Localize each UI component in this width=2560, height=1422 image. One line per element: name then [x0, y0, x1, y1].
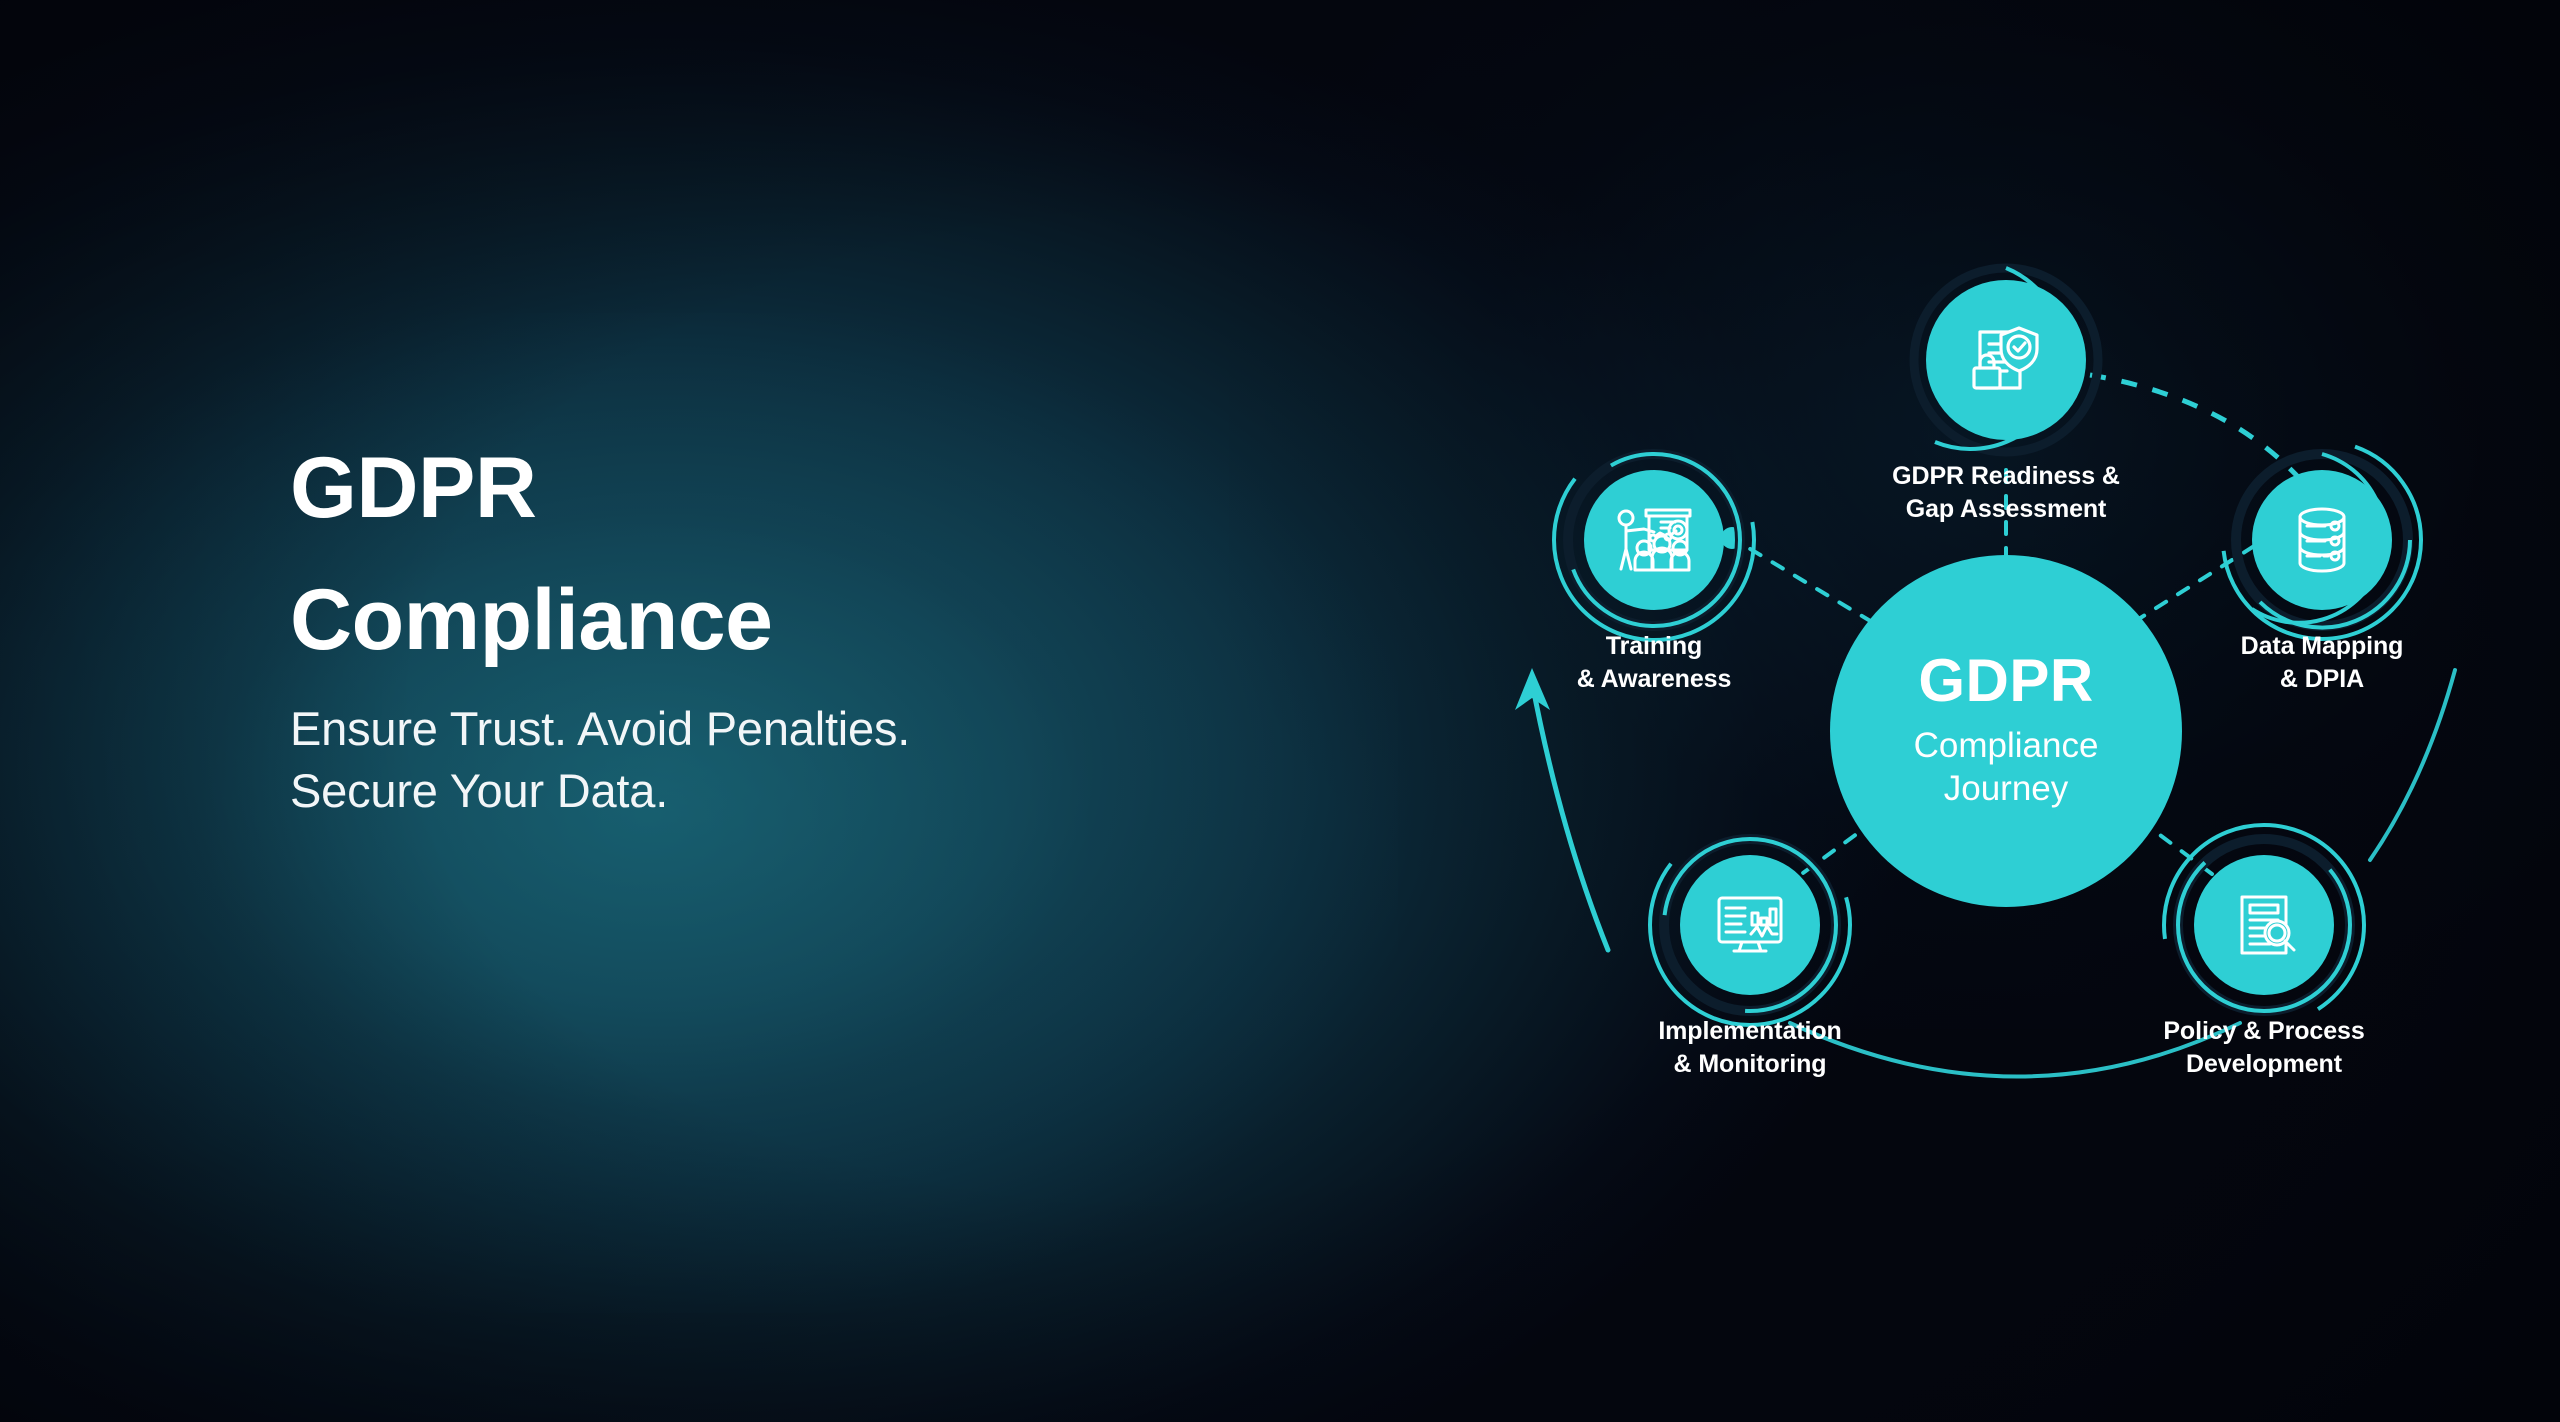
node-data-mapping-label: Data Mapping & DPIA — [2241, 630, 2404, 695]
label-line-1: Implementation — [1658, 1017, 1841, 1045]
label-line-2: Development — [2186, 1050, 2342, 1078]
node-implementation-monitoring-circle[interactable] — [1680, 855, 1820, 995]
hub-subtitle-line-2: Journey — [1944, 769, 2069, 808]
node-training-awareness-circle[interactable] — [1584, 470, 1724, 610]
page-title: GDPR Compliance — [290, 445, 1190, 664]
node-implementation-monitoring-label: Implementation & Monitoring — [1658, 1015, 1841, 1080]
node-training-awareness[interactable]: Training & Awareness — [1584, 470, 1724, 610]
node-training-awareness-label: Training & Awareness — [1577, 630, 1732, 695]
label-line-1: Training — [1606, 632, 1702, 660]
hub-title: GDPR — [1918, 651, 2093, 711]
headline-line-1: GDPR — [290, 440, 536, 536]
label-line-2: Gap Assessment — [1906, 495, 2107, 523]
arc-data-mapping-to-policy — [2370, 670, 2455, 860]
database-cylinder-icon — [2281, 499, 2363, 581]
node-implementation-monitoring[interactable]: Implementation & Monitoring — [1680, 855, 1820, 995]
node-data-mapping[interactable]: Data Mapping & DPIA — [2252, 470, 2392, 610]
subtitle-line-1: Ensure Trust. Avoid Penalties. — [290, 702, 910, 755]
headline-line-2: Compliance — [290, 577, 1190, 665]
node-policy-process[interactable]: Policy & Process Development — [2194, 855, 2334, 995]
gdpr-compliance-journey-diagram: GDPR Compliance Journey — [1480, 170, 2560, 1290]
presentation-training-icon — [1612, 498, 1696, 582]
hub-subtitle-line-1: Compliance — [1914, 726, 2099, 765]
label-line-2: & DPIA — [2280, 665, 2364, 693]
node-gdpr-readiness-circle[interactable] — [1926, 280, 2086, 440]
subtitle-line-2: Secure Your Data. — [290, 764, 668, 817]
slide-canvas: GDPR Compliance Ensure Trust. Avoid Pena… — [0, 0, 2560, 1422]
node-policy-process-circle[interactable] — [2194, 855, 2334, 995]
node-policy-process-label: Policy & Process Development — [2163, 1015, 2364, 1080]
node-data-mapping-circle[interactable] — [2252, 470, 2392, 610]
label-line-1: Data Mapping — [2241, 632, 2404, 660]
document-lock-shield-check-icon — [1958, 312, 2054, 408]
label-line-1: Policy & Process — [2163, 1017, 2364, 1045]
arrow-implementation-to-training — [1515, 668, 1608, 950]
label-line-1: GDPR Readiness & — [1892, 462, 2120, 490]
label-line-2: & Monitoring — [1674, 1050, 1827, 1078]
hero-subtitle: Ensure Trust. Avoid Penalties. Secure Yo… — [290, 698, 1190, 820]
monitor-analytics-icon — [1708, 883, 1792, 967]
label-line-2: & Awareness — [1577, 665, 1732, 693]
hero-copy: GDPR Compliance Ensure Trust. Avoid Pena… — [290, 445, 1190, 821]
node-gdpr-readiness[interactable]: GDPR Readiness & Gap Assessment — [1926, 280, 2086, 440]
node-gdpr-readiness-label: GDPR Readiness & Gap Assessment — [1892, 460, 2120, 525]
document-magnifier-icon — [2223, 884, 2305, 966]
hub-gdpr-compliance-journey[interactable]: GDPR Compliance Journey — [1830, 555, 2182, 907]
hub-subtitle: Compliance Journey — [1914, 725, 2099, 810]
